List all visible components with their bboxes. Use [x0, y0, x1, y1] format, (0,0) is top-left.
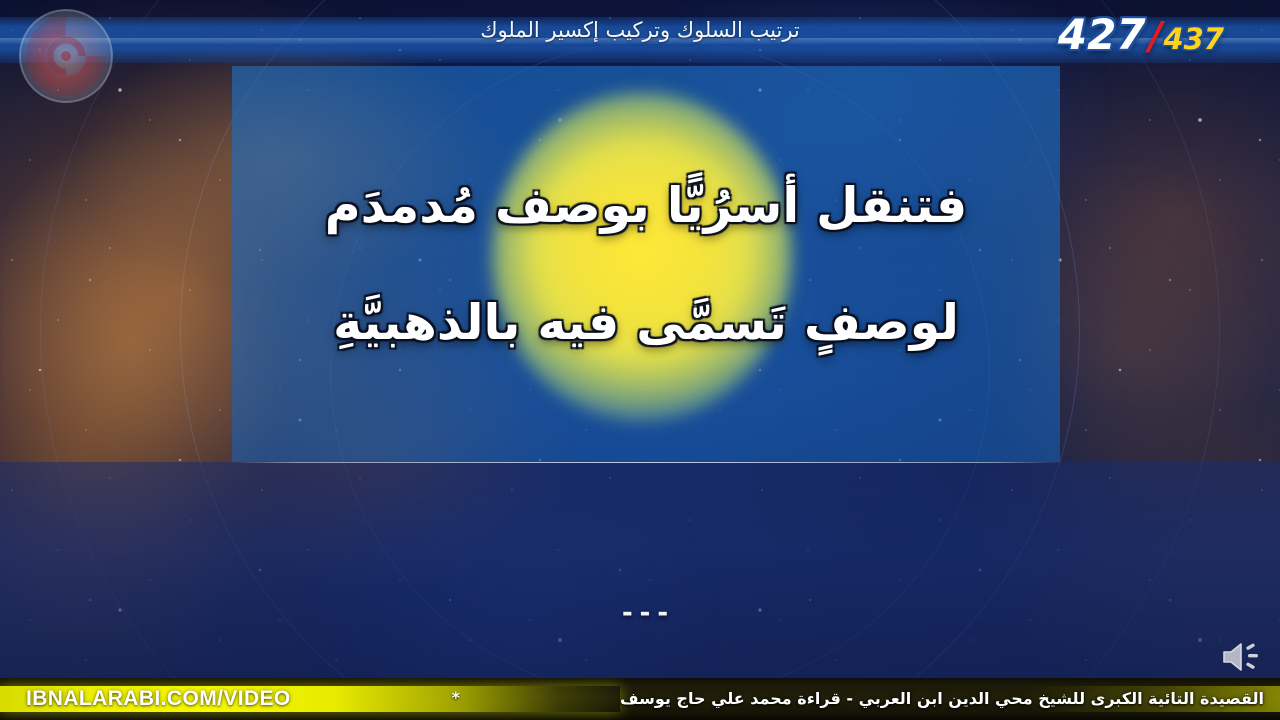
notes-placeholder-dashes: --- [620, 598, 673, 628]
page-counter: 427 / 437 [1058, 14, 1224, 56]
video-player-stage: ترتيب السلوك وتركيب إكسير الملوك 427 / 4… [0, 0, 1280, 720]
notes-area: --- [232, 463, 1060, 663]
footer-star-marker: * [452, 688, 460, 707]
spiral-wave-logo-icon [12, 6, 120, 106]
counter-separator: / [1149, 17, 1163, 55]
counter-current: 427 [1058, 14, 1146, 56]
counter-total: 437 [1163, 25, 1224, 54]
footer-credit-label: القصيدة التائية الكبرى للشيخ محي الدين ا… [620, 689, 1264, 708]
verse-container: فتنقل أسرُيًّا بوصف مُدمدَم لوصفٍ تَسمَّ… [232, 66, 1060, 462]
footer-bar: IBNALARABI.COM/VIDEO * القصيدة التائية ا… [0, 678, 1280, 720]
footer-website-label[interactable]: IBNALARABI.COM/VIDEO [26, 687, 291, 711]
speaker-volume-icon[interactable] [1218, 638, 1266, 676]
verse-line-2: لوصفٍ تَسمَّى فيه بالذهبيَّةِ [333, 292, 959, 353]
verse-line-1: فتنقل أسرُيًّا بوصف مُدمدَم [325, 175, 968, 236]
